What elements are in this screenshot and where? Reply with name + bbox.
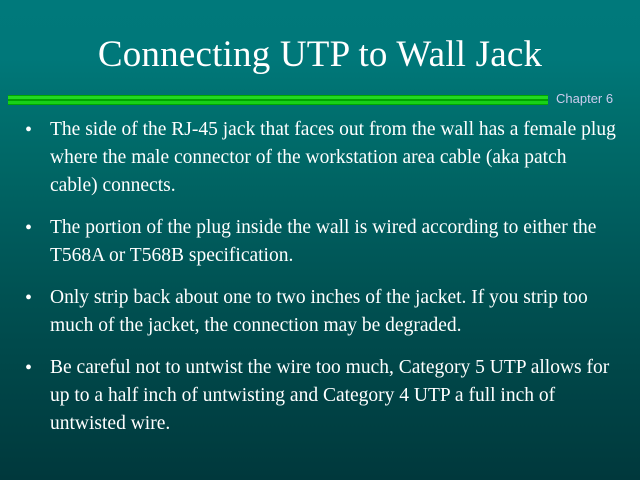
- bullet-text: The portion of the plug inside the wall …: [50, 214, 618, 270]
- accent-rule-highlight-bottom: [8, 101, 548, 104]
- list-item: • Only strip back about one to two inche…: [0, 284, 640, 340]
- bullet-point-icon: •: [25, 284, 37, 312]
- title-divider-row: Chapter 6: [0, 94, 640, 110]
- slide-title-block: Connecting UTP to Wall Jack: [0, 32, 640, 78]
- bullet-text: Only strip back about one to two inches …: [50, 284, 618, 340]
- bullet-point-icon: •: [25, 214, 37, 242]
- page-title: Connecting UTP to Wall Jack: [0, 32, 640, 78]
- list-item: • The side of the RJ-45 jack that faces …: [0, 116, 640, 200]
- bullet-text: Be careful not to untwist the wire too m…: [50, 354, 618, 438]
- bullet-point-icon: •: [25, 116, 37, 144]
- slide-bullet-list: • The side of the RJ-45 jack that faces …: [0, 116, 640, 452]
- bullet-text: The side of the RJ-45 jack that faces ou…: [50, 116, 618, 200]
- bullet-point-icon: •: [25, 354, 37, 382]
- accent-rule-divider: [8, 95, 548, 105]
- chapter-label: Chapter 6: [556, 91, 613, 107]
- presentation-slide: Connecting UTP to Wall Jack Chapter 6 • …: [0, 0, 640, 480]
- list-item: • The portion of the plug inside the wal…: [0, 214, 640, 270]
- list-item: • Be careful not to untwist the wire too…: [0, 354, 640, 438]
